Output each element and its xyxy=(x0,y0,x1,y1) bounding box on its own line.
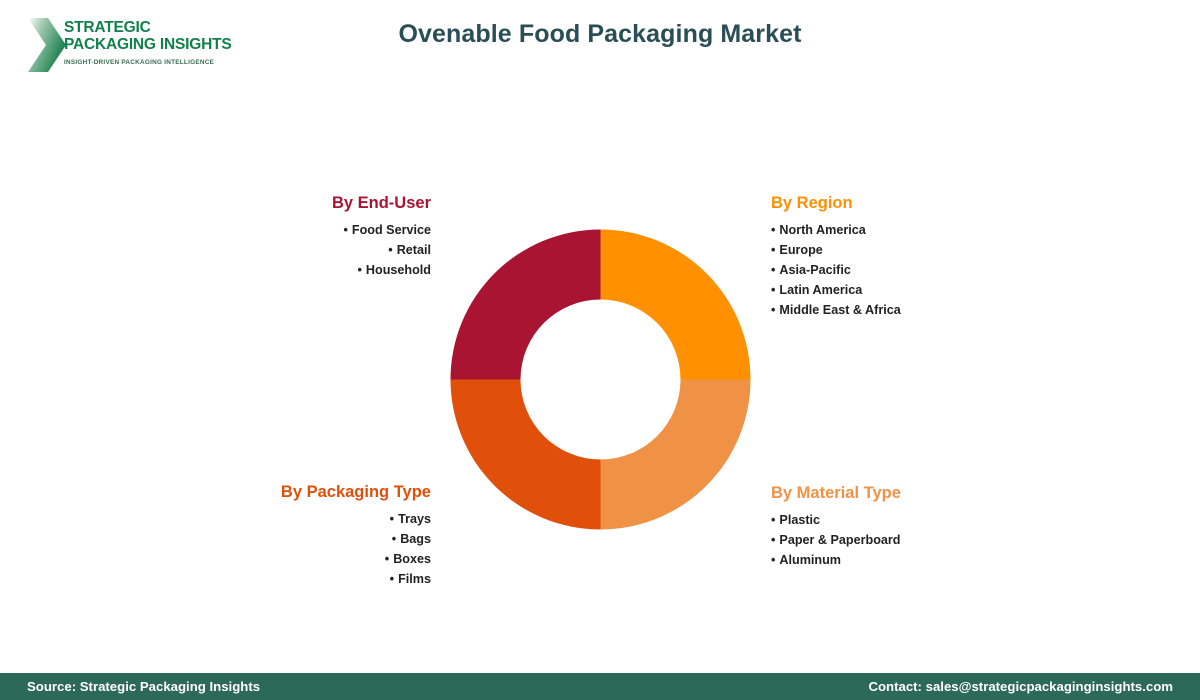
list-item-label: Latin America xyxy=(779,283,862,297)
bullet-icon: • xyxy=(771,263,775,277)
list-item-label: Asia-Pacific xyxy=(779,263,850,277)
list-item: •Asia-Pacific xyxy=(771,260,1031,280)
donut-slice-end-user xyxy=(451,230,601,380)
list-item-label: Bags xyxy=(400,532,431,546)
list-item-label: North America xyxy=(779,223,865,237)
bullet-icon: • xyxy=(390,572,394,586)
segment-block-material-type: By Material Type •Plastic •Paper & Paper… xyxy=(771,484,1031,570)
list-item-label: Aluminum xyxy=(779,553,841,567)
segment-block-end-user: By End-User •Food Service •Retail •House… xyxy=(211,194,431,280)
footer-bar: Source: Strategic Packaging Insights Con… xyxy=(0,673,1200,700)
list-item: •Middle East & Africa xyxy=(771,300,1031,320)
list-item: •Paper & Paperboard xyxy=(771,530,1031,550)
bullet-icon: • xyxy=(343,223,347,237)
segment-title-region: By Region xyxy=(771,194,1031,213)
list-item: •Household xyxy=(211,260,431,280)
list-item-label: Middle East & Africa xyxy=(779,303,900,317)
segment-list-region: •North America •Europe •Asia-Pacific •La… xyxy=(771,220,1031,320)
bullet-icon: • xyxy=(771,303,775,317)
bullet-icon: • xyxy=(771,223,775,237)
list-item-label: Trays xyxy=(398,512,431,526)
bullet-icon: • xyxy=(388,243,392,257)
bullet-icon: • xyxy=(771,553,775,567)
bullet-icon: • xyxy=(771,513,775,527)
list-item-label: Films xyxy=(398,572,431,586)
list-item: •Europe xyxy=(771,240,1031,260)
list-item: •Trays xyxy=(210,509,431,529)
segment-block-region: By Region •North America •Europe •Asia-P… xyxy=(771,194,1031,320)
donut-slice-packaging-type xyxy=(451,380,601,530)
bullet-icon: • xyxy=(771,243,775,257)
list-item: •Aluminum xyxy=(771,550,1031,570)
list-item-label: Boxes xyxy=(393,552,431,566)
donut-slice-material-type xyxy=(601,380,751,530)
bullet-icon: • xyxy=(358,263,362,277)
list-item: •Latin America xyxy=(771,280,1031,300)
list-item: •North America xyxy=(771,220,1031,240)
donut-slice-region xyxy=(601,230,751,380)
bullet-icon: • xyxy=(392,532,396,546)
segment-title-end-user: By End-User xyxy=(211,194,431,213)
list-item: •Bags xyxy=(210,529,431,549)
list-item: •Boxes xyxy=(210,549,431,569)
list-item: •Films xyxy=(210,569,431,589)
bullet-icon: • xyxy=(771,533,775,547)
segment-title-material-type: By Material Type xyxy=(771,484,1031,503)
footer-contact: Contact: sales@strategicpackaginginsight… xyxy=(868,679,1173,694)
bullet-icon: • xyxy=(385,552,389,566)
footer-source: Source: Strategic Packaging Insights xyxy=(27,679,260,694)
segment-list-material-type: •Plastic •Paper & Paperboard •Aluminum xyxy=(771,510,1031,570)
list-item-label: Food Service xyxy=(352,223,431,237)
bullet-icon: • xyxy=(390,512,394,526)
page-title: Ovenable Food Packaging Market xyxy=(0,20,1200,49)
segment-list-end-user: •Food Service •Retail •Household xyxy=(211,220,431,280)
segment-block-packaging-type: By Packaging Type •Trays •Bags •Boxes •F… xyxy=(210,483,431,589)
list-item-label: Europe xyxy=(779,243,822,257)
list-item-label: Retail xyxy=(397,243,431,257)
donut-chart xyxy=(450,229,751,530)
list-item-label: Paper & Paperboard xyxy=(779,533,900,547)
bullet-icon: • xyxy=(771,283,775,297)
list-item: •Retail xyxy=(211,240,431,260)
brand-tagline: INSIGHT-DRIVEN PACKAGING INTELLIGENCE xyxy=(64,58,214,67)
list-item-label: Household xyxy=(366,263,431,277)
list-item: •Food Service xyxy=(211,220,431,240)
segment-list-packaging-type: •Trays •Bags •Boxes •Films xyxy=(210,509,431,589)
list-item-label: Plastic xyxy=(779,513,820,527)
segment-title-packaging-type: By Packaging Type xyxy=(210,483,431,502)
list-item: •Plastic xyxy=(771,510,1031,530)
